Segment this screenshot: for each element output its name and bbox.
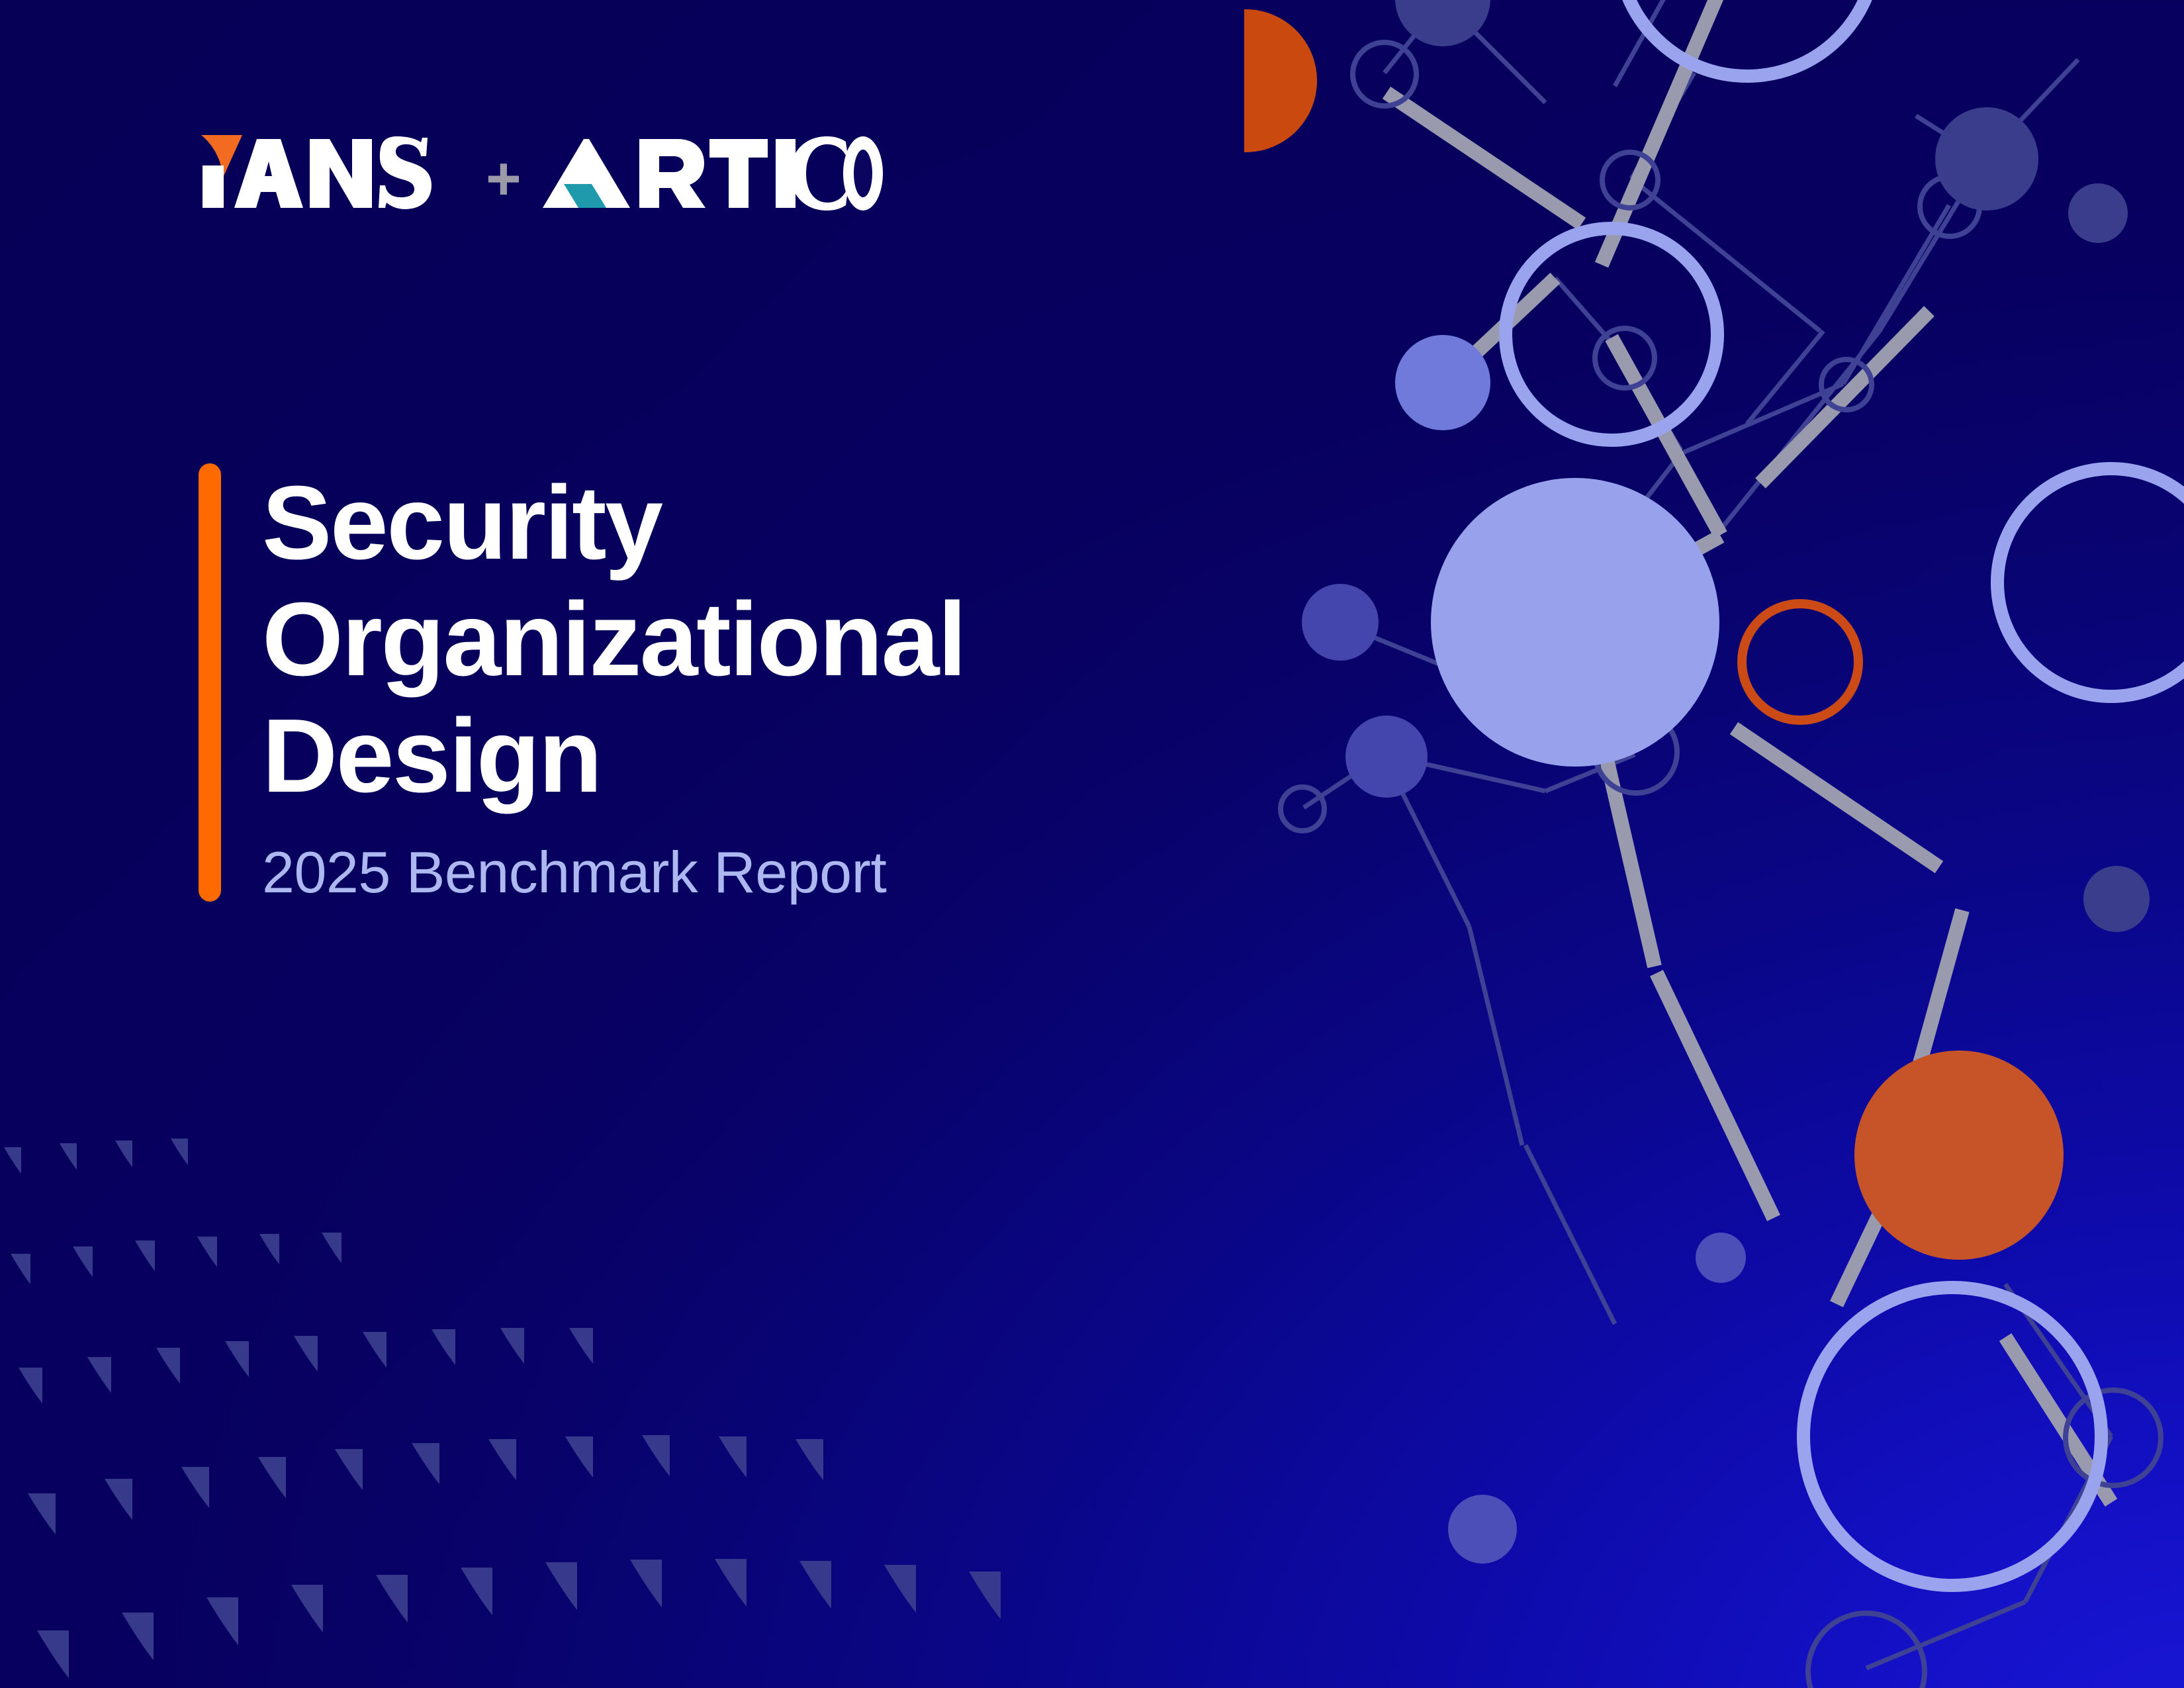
ians-wordmark-svg [196,123,466,213]
orange-accent-bar [199,463,221,902]
report-cover: + Se [0,0,2184,1688]
ians-logo [196,123,466,213]
cover-title-block: Security Organizational Design 2025 Benc… [199,463,965,902]
artico-logo [540,123,884,213]
logo-plus-separator: + [486,148,520,209]
page-subtitle: 2025 Benchmark Report [262,843,965,902]
title-line-1: Security [262,465,965,581]
artico-wordmark-svg [540,123,884,213]
page-title: Security Organizational Design [262,465,965,814]
title-line-2: Organizational [262,581,965,698]
logo-lockup: + [196,123,884,213]
title-line-3: Design [262,698,965,814]
